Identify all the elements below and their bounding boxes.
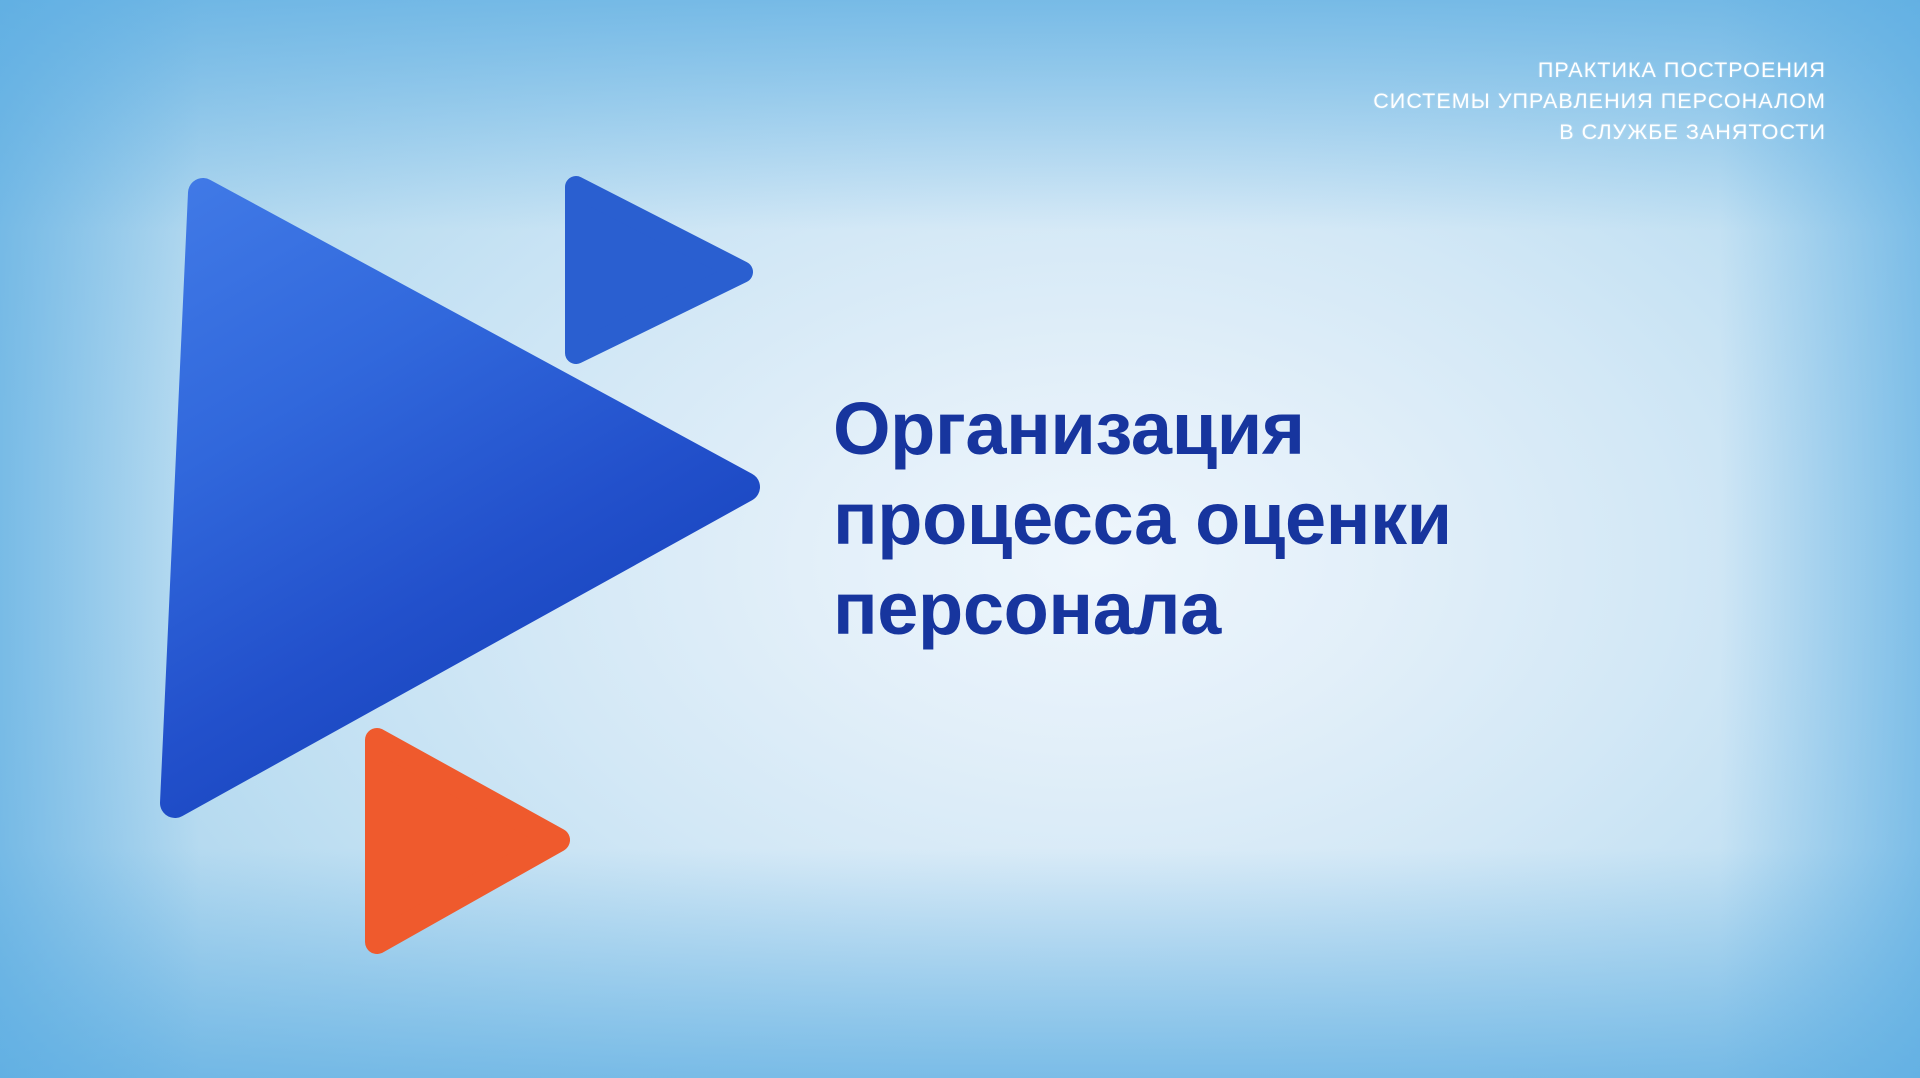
header-line-2: СИСТЕМЫ УПРАВЛЕНИЯ ПЕРСОНАЛОМ [1373,86,1826,117]
title-line-3: персонала [833,564,1533,654]
programme-header: ПРАКТИКА ПОСТРОЕНИЯ СИСТЕМЫ УПРАВЛЕНИЯ П… [1373,55,1826,148]
title-line-2: процесса оценки [833,474,1533,564]
slide-canvas: ПРАКТИКА ПОСТРОЕНИЯ СИСТЕМЫ УПРАВЛЕНИЯ П… [0,0,1920,1078]
small-play-triangle-shape [576,187,742,353]
header-line-1: ПРАКТИКА ПОСТРОЕНИЯ [1373,55,1826,86]
slide-title: Организация процесса оценки персонала [833,384,1533,654]
title-line-1: Организация [833,384,1533,474]
play-triangles-logo [0,0,900,1078]
orange-play-triangle-shape [377,740,558,942]
header-line-3: В СЛУЖБЕ ЗАНЯТОСТИ [1373,117,1826,148]
